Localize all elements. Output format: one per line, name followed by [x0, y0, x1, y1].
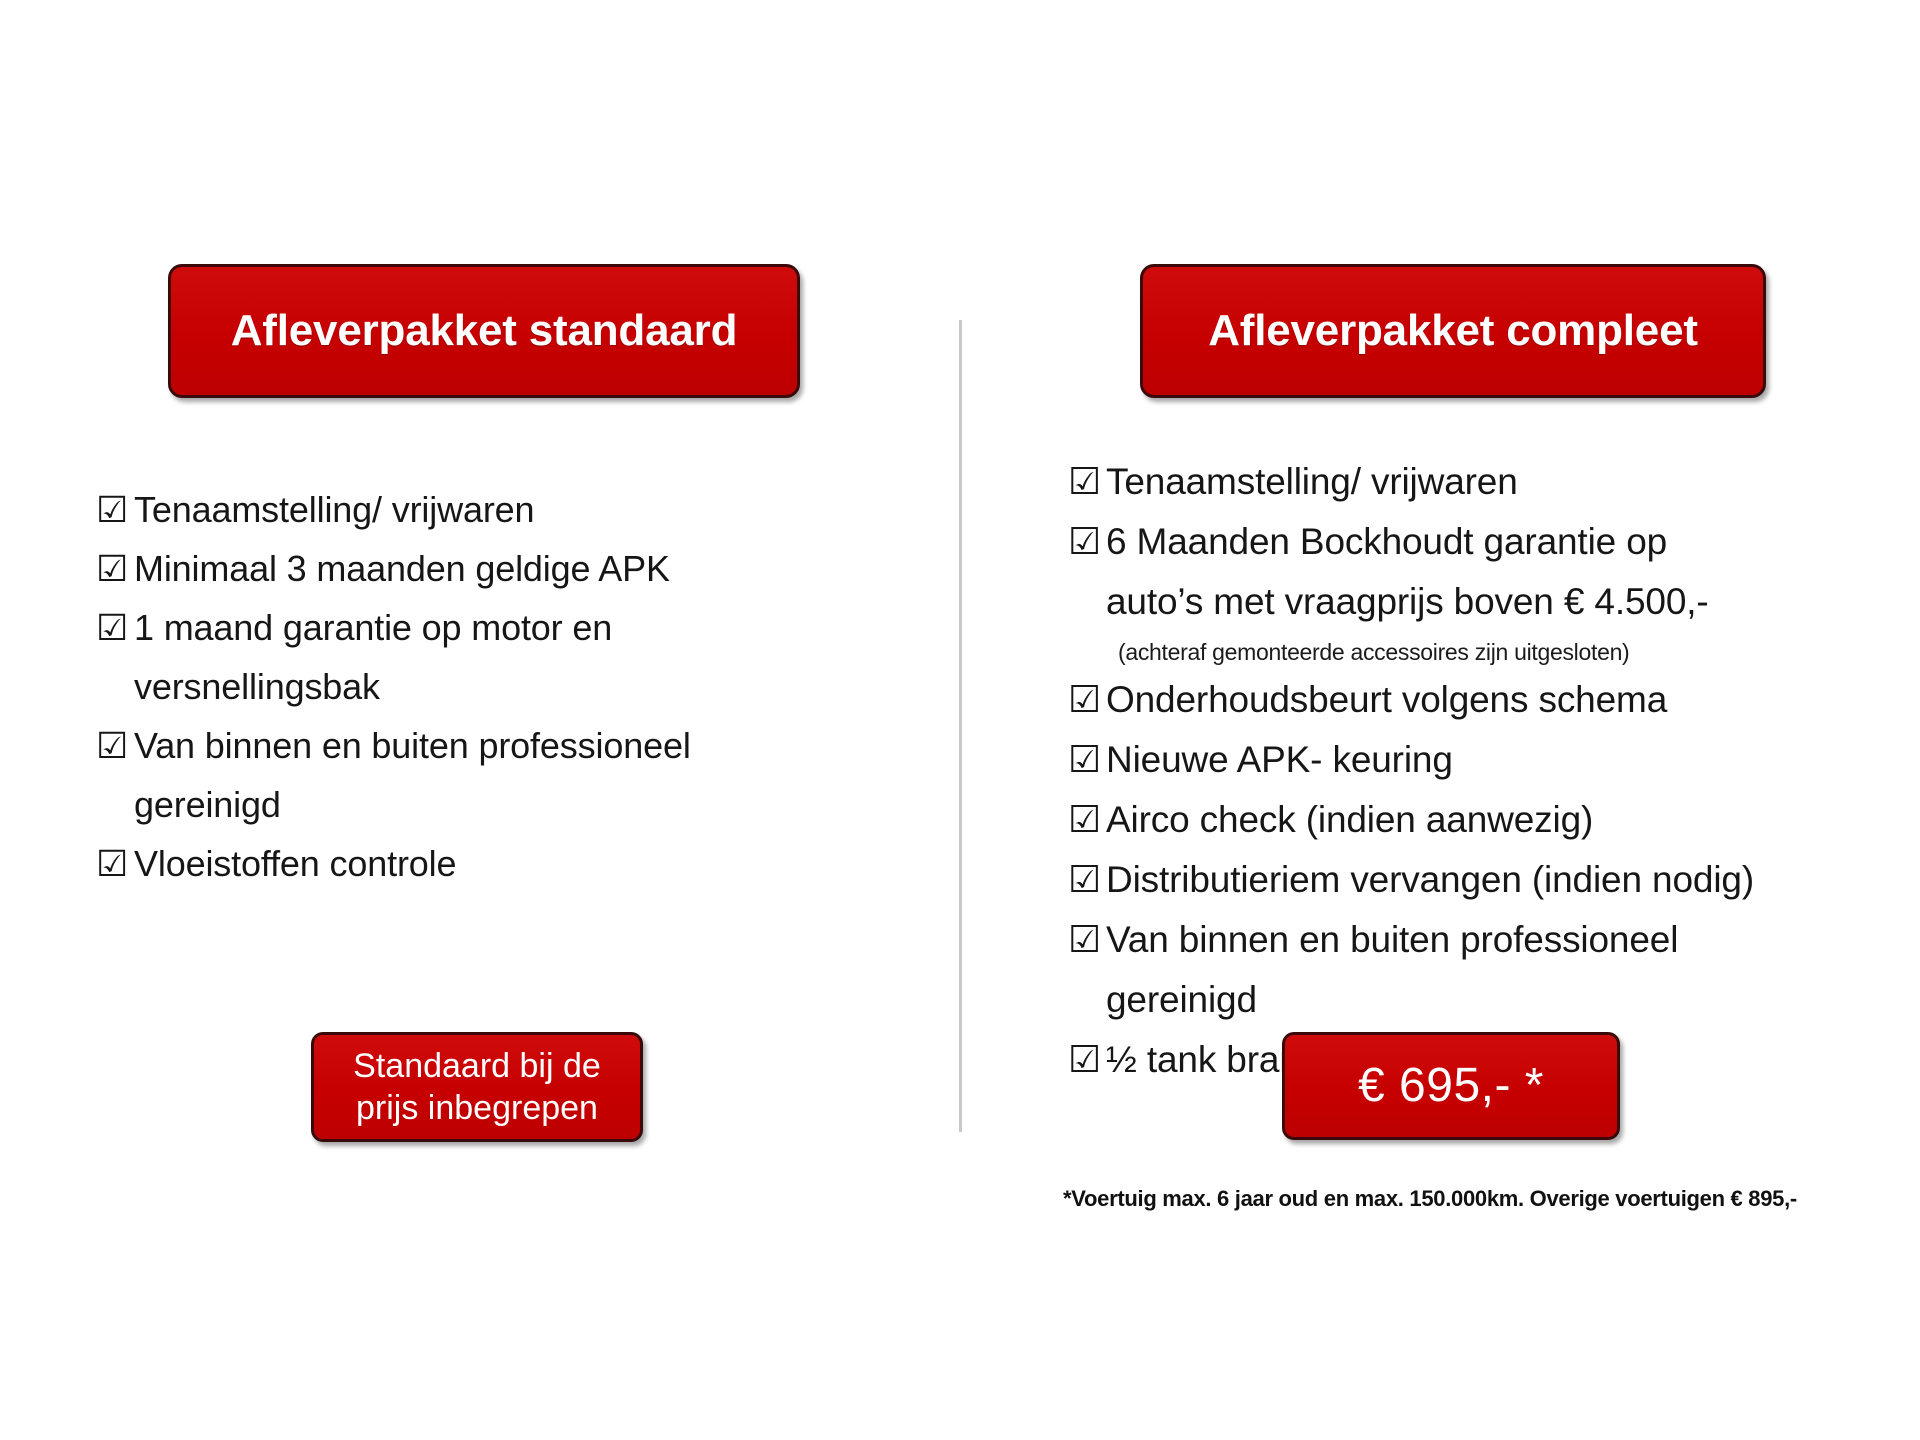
- list-item: ☑ Van binnen en buiten professioneel ger…: [96, 719, 886, 831]
- feature-text-continuation: gereinigd: [96, 778, 886, 831]
- checkbox-checked-icon: ☑: [96, 837, 134, 890]
- feature-text: 1 maand garantie op motor en: [134, 601, 886, 654]
- feature-text: 6 Maanden Bockhoudt garantie op: [1106, 515, 1908, 569]
- list-item: ☑ Minimaal 3 maanden geldige APK: [96, 542, 886, 595]
- list-item: ☑ Airco check (indien aanwezig): [1068, 793, 1908, 847]
- checkbox-checked-icon: ☑: [1068, 733, 1106, 787]
- list-item: ☑ Nieuwe APK- keuring: [1068, 733, 1908, 787]
- feature-text-continuation: auto’s met vraagprijs boven € 4.500,-: [1068, 575, 1908, 629]
- price-badge-standard-text: Standaard bij de prijs inbegrepen: [339, 1045, 615, 1130]
- feature-text: Onderhoudsbeurt volgens schema: [1106, 673, 1908, 727]
- feature-text: Vloeistoffen controle: [134, 837, 886, 890]
- package-title-standard: Afleverpakket standaard: [231, 307, 738, 355]
- list-item: ☑ 6 Maanden Bockhoudt garantie op auto’s…: [1068, 515, 1908, 669]
- checkbox-checked-icon: ☑: [1068, 913, 1106, 967]
- price-badge-complete: € 695,- *: [1282, 1032, 1620, 1140]
- list-item: ☑ Distributieriem vervangen (indien nodi…: [1068, 853, 1908, 907]
- checkbox-checked-icon: ☑: [1068, 793, 1106, 847]
- list-item: ☑ Tenaamstelling/ vrijwaren: [96, 483, 886, 536]
- feature-text: Distributieriem vervangen (indien nodig): [1106, 853, 1908, 907]
- feature-text: Tenaamstelling/ vrijwaren: [1106, 455, 1908, 509]
- feature-text-note: (achteraf gemonteerde accessoires zijn u…: [1068, 635, 1908, 669]
- list-item: ☑ Van binnen en buiten professioneel ger…: [1068, 913, 1908, 1027]
- footnote-complete: *Voertuig max. 6 jaar oud en max. 150.00…: [1063, 1185, 1913, 1213]
- checkbox-checked-icon: ☑: [96, 601, 134, 654]
- checkbox-checked-icon: ☑: [96, 483, 134, 536]
- checkbox-checked-icon: ☑: [96, 719, 134, 772]
- price-badge-complete-text: € 695,- *: [1358, 1060, 1544, 1113]
- column-divider: [959, 320, 962, 1132]
- feature-text: Van binnen en buiten professioneel: [1106, 913, 1908, 967]
- feature-list-standard: ☑ Tenaamstelling/ vrijwaren ☑ Minimaal 3…: [96, 483, 886, 896]
- feature-list-complete: ☑ Tenaamstelling/ vrijwaren ☑ 6 Maanden …: [1068, 455, 1908, 1093]
- list-item: ☑ Vloeistoffen controle: [96, 837, 886, 890]
- price-badge-standard-line1: Standaard bij de: [353, 1047, 601, 1085]
- list-item: ☑ Tenaamstelling/ vrijwaren: [1068, 455, 1908, 509]
- feature-text-continuation: gereinigd: [1068, 973, 1908, 1027]
- package-title-complete: Afleverpakket compleet: [1208, 307, 1698, 355]
- checkbox-checked-icon: ☑: [1068, 853, 1106, 907]
- package-title-banner-standard: Afleverpakket standaard: [168, 264, 800, 398]
- price-badge-standard-line2: prijs inbegrepen: [356, 1089, 598, 1127]
- checkbox-checked-icon: ☑: [1068, 1033, 1106, 1087]
- price-badge-standard: Standaard bij de prijs inbegrepen: [311, 1032, 643, 1142]
- list-item: ☑ 1 maand garantie op motor en versnelli…: [96, 601, 886, 713]
- package-title-banner-complete: Afleverpakket compleet: [1140, 264, 1766, 398]
- feature-text: Minimaal 3 maanden geldige APK: [134, 542, 886, 595]
- checkbox-checked-icon: ☑: [1068, 673, 1106, 727]
- feature-text: Van binnen en buiten professioneel: [134, 719, 886, 772]
- list-item: ☑ Onderhoudsbeurt volgens schema: [1068, 673, 1908, 727]
- feature-text: Airco check (indien aanwezig): [1106, 793, 1908, 847]
- checkbox-checked-icon: ☑: [1068, 455, 1106, 509]
- slide-canvas: Afleverpakket standaard ☑ Tenaamstelling…: [0, 0, 1920, 1440]
- feature-text: Nieuwe APK- keuring: [1106, 733, 1908, 787]
- feature-text: Tenaamstelling/ vrijwaren: [134, 483, 886, 536]
- feature-text-continuation: versnellingsbak: [96, 660, 886, 713]
- checkbox-checked-icon: ☑: [1068, 515, 1106, 569]
- checkbox-checked-icon: ☑: [96, 542, 134, 595]
